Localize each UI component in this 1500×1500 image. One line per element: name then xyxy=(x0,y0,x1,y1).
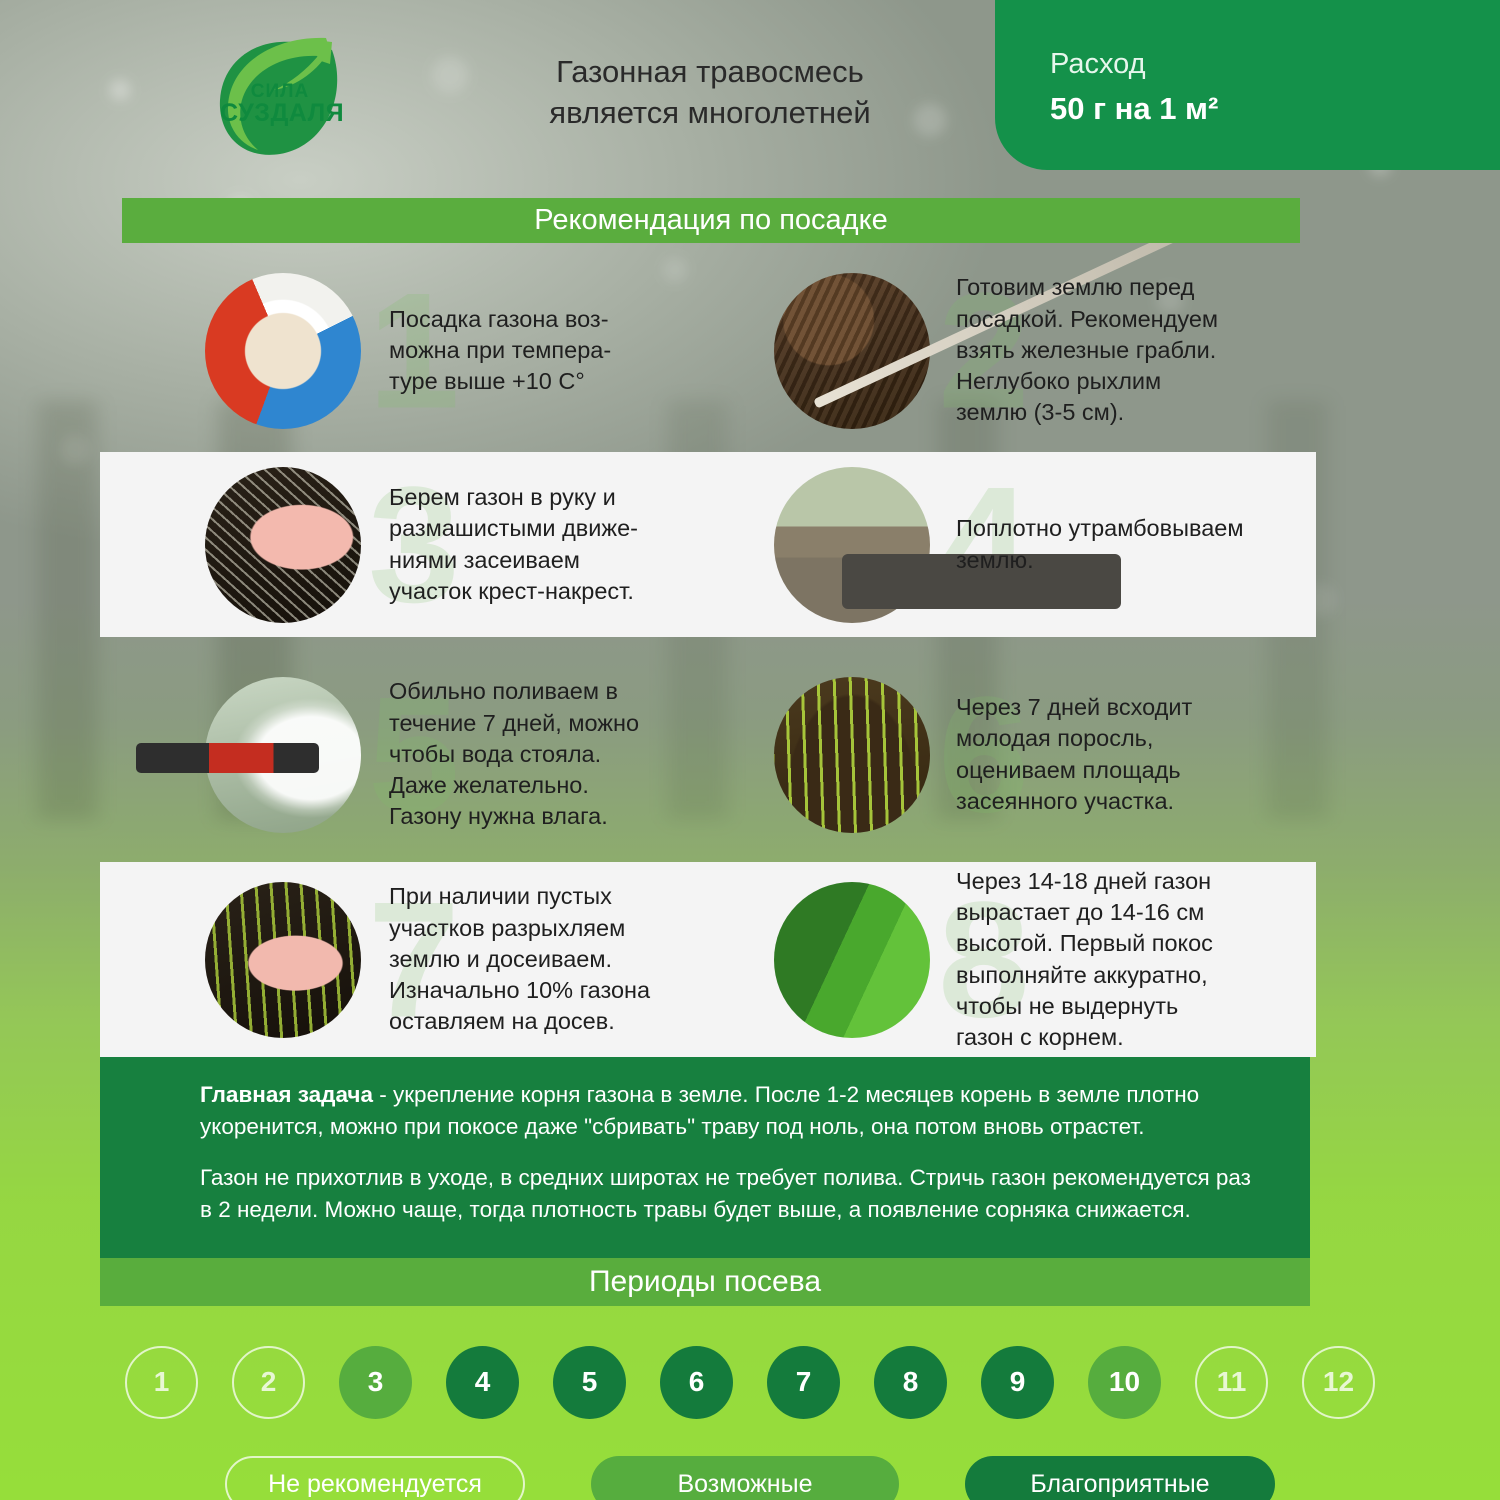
step-text-line: газон с корнем. xyxy=(956,1022,1296,1053)
step-card-4: 4 Поплотно утрамбовываем землю. xyxy=(708,452,1316,637)
step-card-8: 8 Через 14-18 дней газон вырастает до 14… xyxy=(708,862,1316,1057)
step-text-line: землю (3-5 см). xyxy=(956,397,1296,428)
step-text-line: Обильно поливаем в xyxy=(389,676,708,707)
step-text-line: чтобы не выдернуть xyxy=(956,991,1296,1022)
infographic-page: СИЛА СУЗДАЛЯ Газонная травосмесь являетс… xyxy=(0,0,1500,1500)
step-text-line: взять железные грабли. xyxy=(956,335,1296,366)
step-text-line: Газону нужна влага. xyxy=(389,801,708,832)
step-text-7: При наличии пустых участков разрыхляем з… xyxy=(389,881,708,1037)
step-text-2: Готовим землю перед посадкой. Рекомендуе… xyxy=(956,272,1296,428)
step-row-4: 7 При наличии пустых участков разрыхляем… xyxy=(100,862,1316,1057)
step-text-line: Через 14-18 дней газон xyxy=(956,866,1296,897)
month-circle-5[interactable]: 5 xyxy=(553,1346,626,1419)
step-text-4: Поплотно утрамбовываем землю. xyxy=(956,513,1296,576)
step-text-line: Изначально 10% газона xyxy=(389,975,708,1006)
month-circle-2[interactable]: 2 xyxy=(232,1346,305,1419)
consumption-value: 50 г на 1 м² xyxy=(1050,91,1500,127)
lawn-roller-icon xyxy=(774,467,930,623)
main-task-paragraph-1: Главная задача - укрепление корня газона… xyxy=(200,1079,1262,1142)
step-text-line: Неглубоко рыхлим xyxy=(956,366,1296,397)
brand-logo: СИЛА СУЗДАЛЯ xyxy=(214,30,354,165)
step-card-3: 3 Берем газон в руку и размашистыми движ… xyxy=(100,452,708,637)
step-card-6: 6 Через 7 дней всходит молодая поросль, … xyxy=(708,662,1316,847)
step-card-2: 2 Готовим землю перед посадкой. Рекоменд… xyxy=(708,258,1316,443)
step-text-line: чтобы вода стояла. xyxy=(389,739,708,770)
consumption-label: Расход xyxy=(1050,46,1500,82)
month-circle-11[interactable]: 11 xyxy=(1195,1346,1268,1419)
month-circle-6[interactable]: 6 xyxy=(660,1346,733,1419)
step-text-line: Через 7 дней всходит xyxy=(956,692,1296,723)
step-text-line: участков разрыхляем xyxy=(389,913,708,944)
step-text-line: Берем газон в руку и xyxy=(389,482,708,513)
hand-with-seeds-icon xyxy=(205,467,361,623)
legend-possible[interactable]: Возможные xyxy=(591,1456,899,1500)
legend: Не рекомендуется Возможные Благоприятные xyxy=(0,1453,1500,1500)
step-text-line: посадкой. Рекомендуем xyxy=(956,304,1296,335)
step-text-line: Поплотно утрамбовываем xyxy=(956,513,1296,544)
step-text-line: землю и досеиваем. xyxy=(389,944,708,975)
step-text-line: высотой. Первый покос xyxy=(956,928,1296,959)
step-text-line: размашистыми движе- xyxy=(389,513,708,544)
step-text-line: Готовим землю перед xyxy=(956,272,1296,303)
month-circle-4[interactable]: 4 xyxy=(446,1346,519,1419)
step-text-line: засеянного участка. xyxy=(956,786,1296,817)
legend-not-recommended[interactable]: Не рекомендуется xyxy=(225,1456,525,1500)
step-text-8: Через 14-18 дней газон вырастает до 14-1… xyxy=(956,866,1296,1054)
month-circle-10[interactable]: 10 xyxy=(1088,1346,1161,1419)
month-circle-9[interactable]: 9 xyxy=(981,1346,1054,1419)
step-row-1: 1 Посадка газона воз- можна при темпера-… xyxy=(100,258,1316,443)
page-title-line1: Газонная травосмесь xyxy=(445,52,975,93)
step-text-line: выполняйте аккуратно, xyxy=(956,960,1296,991)
banner-recommendation: Рекомендация по посадке xyxy=(122,198,1300,243)
step-text-6: Через 7 дней всходит молодая поросль, оц… xyxy=(956,692,1296,817)
main-task-paragraph-2: Газон не прихотлив в уходе, в средних ши… xyxy=(200,1162,1262,1225)
step-card-5: 5 Обильно поливаем в течение 7 дней, мож… xyxy=(100,662,708,847)
step-text-line: течение 7 дней, можно xyxy=(389,708,708,739)
main-task-lead: Главная задача xyxy=(200,1082,373,1107)
step-text-line: Даже желательно. xyxy=(389,770,708,801)
month-circle-7[interactable]: 7 xyxy=(767,1346,840,1419)
step-row-2: 3 Берем газон в руку и размашистыми движ… xyxy=(100,452,1316,637)
banner-periods: Периоды посева xyxy=(100,1258,1310,1306)
step-text-line: туре выше +10 C° xyxy=(389,366,708,397)
month-circles: 1 2 3 4 5 6 7 8 9 10 11 12 xyxy=(0,1332,1500,1432)
step-text-1: Посадка газона воз- можна при темпера- т… xyxy=(389,304,708,398)
header: СИЛА СУЗДАЛЯ Газонная травосмесь являетс… xyxy=(0,0,1500,175)
step-text-line: вырастает до 14-16 см xyxy=(956,897,1296,928)
rake-on-soil-icon xyxy=(774,273,930,429)
month-circle-12[interactable]: 12 xyxy=(1302,1346,1375,1419)
page-title: Газонная травосмесь является многолетней xyxy=(445,52,975,134)
brand-logo-line2: СУЗДАЛЯ xyxy=(220,101,340,126)
water-spray-icon xyxy=(205,677,361,833)
step-text-line: Посадка газона воз- xyxy=(389,304,708,335)
step-text-line: При наличии пустых xyxy=(389,881,708,912)
brand-logo-text: СИЛА СУЗДАЛЯ xyxy=(220,82,340,126)
mowed-lawn-icon xyxy=(774,882,930,1038)
step-card-7: 7 При наличии пустых участков разрыхляем… xyxy=(100,862,708,1057)
step-card-1: 1 Посадка газона воз- можна при темпера-… xyxy=(100,258,708,443)
step-text-line: можна при темпера- xyxy=(389,335,708,366)
consumption-panel: Расход 50 г на 1 м² xyxy=(995,0,1500,170)
reseeding-hand-icon xyxy=(205,882,361,1038)
thermometer-icon xyxy=(205,273,361,429)
step-text-line: молодая поросль, xyxy=(956,723,1296,754)
step-row-3: 5 Обильно поливаем в течение 7 дней, мож… xyxy=(100,662,1316,847)
month-circle-8[interactable]: 8 xyxy=(874,1346,947,1419)
step-text-line: участок крест-накрест. xyxy=(389,576,708,607)
step-text-line: оцениваем площадь xyxy=(956,755,1296,786)
main-task-block: Главная задача - укрепление корня газона… xyxy=(100,1057,1310,1262)
step-text-line: ниями засеиваем xyxy=(389,545,708,576)
page-title-line2: является многолетней xyxy=(445,93,975,134)
legend-favorable[interactable]: Благоприятные xyxy=(965,1456,1275,1500)
step-text-line: землю. xyxy=(956,545,1296,576)
step-text-3: Берем газон в руку и размашистыми движе-… xyxy=(389,482,708,607)
young-sprouts-icon xyxy=(774,677,930,833)
month-circle-1[interactable]: 1 xyxy=(125,1346,198,1419)
step-text-5: Обильно поливаем в течение 7 дней, можно… xyxy=(389,676,708,832)
month-circle-3[interactable]: 3 xyxy=(339,1346,412,1419)
step-text-line: оставляем на досев. xyxy=(389,1006,708,1037)
